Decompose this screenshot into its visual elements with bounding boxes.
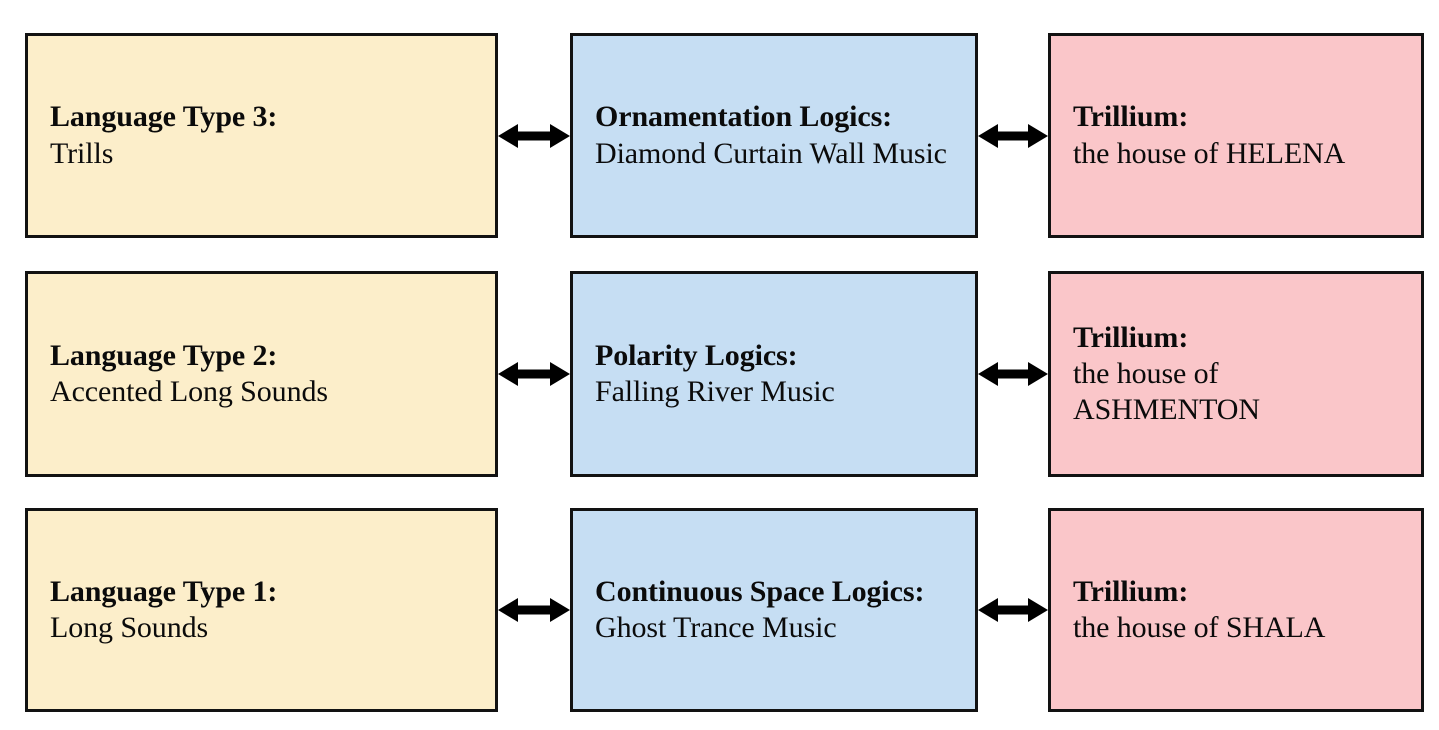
box-subtitle: the house of ASHMENTON (1073, 356, 1401, 429)
logics-music-box: Continuous Space Logics: Ghost Trance Mu… (570, 508, 978, 712)
box-subtitle: Ghost Trance Music (595, 610, 955, 646)
language-type-box: Language Type 1: Long Sounds (25, 508, 498, 712)
double-headed-arrow-icon (978, 593, 1048, 627)
box-title: Ornamentation Logics: (595, 99, 955, 135)
box-title: Language Type 1: (50, 574, 475, 610)
trillium-house-box: Trillium: the house of SHALA (1048, 508, 1424, 712)
box-subtitle: Trills (50, 136, 475, 172)
box-title: Polarity Logics: (595, 338, 955, 374)
double-headed-arrow-icon (978, 357, 1048, 391)
box-title: Continuous Space Logics: (595, 574, 955, 610)
trillium-house-box: Trillium: the house of ASHMENTON (1048, 271, 1424, 477)
language-type-box: Language Type 2: Accented Long Sounds (25, 271, 498, 477)
box-title: Language Type 2: (50, 338, 475, 374)
double-headed-arrow-icon (498, 119, 570, 153)
diagram-row: Language Type 3: Trills Ornamentation Lo… (0, 33, 1439, 238)
box-subtitle: Accented Long Sounds (50, 374, 475, 410)
double-headed-arrow-icon (498, 357, 570, 391)
box-title: Language Type 3: (50, 99, 475, 135)
box-title: Trillium: (1073, 320, 1401, 356)
logics-music-box: Polarity Logics: Falling River Music (570, 271, 978, 477)
box-subtitle: the house of SHALA (1073, 610, 1401, 646)
diagram-row: Language Type 1: Long Sounds Continuous … (0, 508, 1439, 712)
trillium-house-box: Trillium: the house of HELENA (1048, 33, 1424, 238)
box-subtitle: the house of HELENA (1073, 136, 1401, 172)
box-title: Trillium: (1073, 99, 1401, 135)
diagram-row: Language Type 2: Accented Long Sounds Po… (0, 271, 1439, 477)
box-title: Trillium: (1073, 574, 1401, 610)
correspondence-diagram: Language Type 3: Trills Ornamentation Lo… (0, 0, 1439, 730)
box-subtitle: Falling River Music (595, 374, 955, 410)
logics-music-box: Ornamentation Logics: Diamond Curtain Wa… (570, 33, 978, 238)
language-type-box: Language Type 3: Trills (25, 33, 498, 238)
double-headed-arrow-icon (978, 119, 1048, 153)
double-headed-arrow-icon (498, 593, 570, 627)
box-subtitle: Diamond Curtain Wall Music (595, 136, 955, 172)
box-subtitle: Long Sounds (50, 610, 475, 646)
